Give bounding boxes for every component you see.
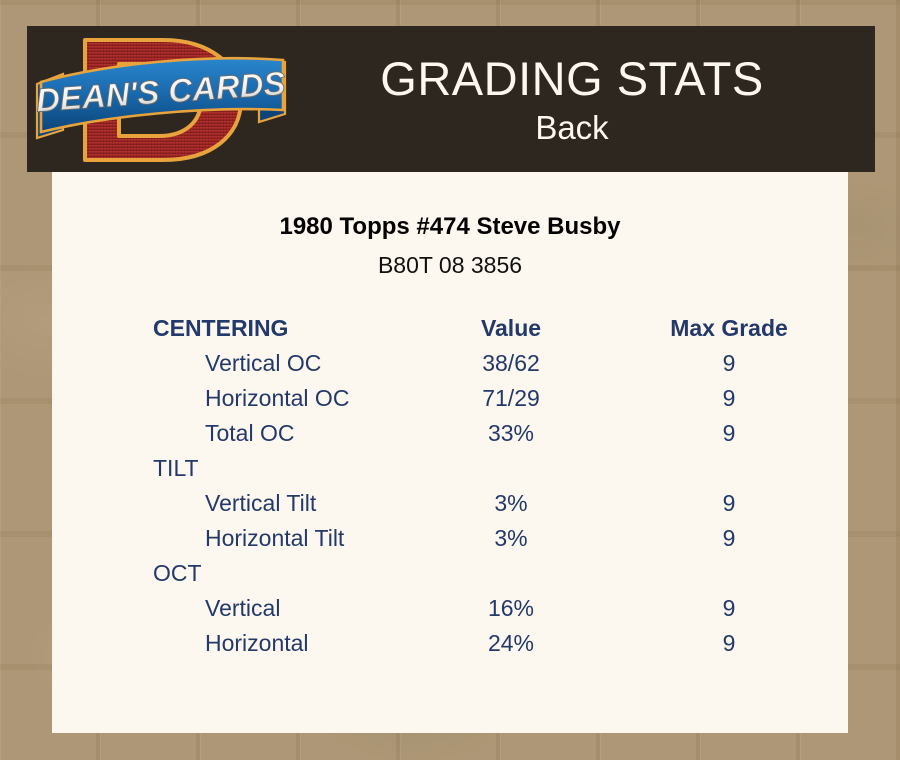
row-value: 33% bbox=[412, 416, 610, 451]
deans-cards-logo-icon: DEAN'S CARDS bbox=[27, 26, 295, 172]
header-titles: GRADING STATS Back bbox=[295, 55, 875, 144]
row-max-grade: 9 bbox=[610, 416, 848, 451]
table-row: Total OC33%9 bbox=[52, 416, 848, 451]
table-row: Horizontal24%9 bbox=[52, 626, 848, 661]
table-section-row: OCT bbox=[52, 556, 848, 591]
row-max-grade: 9 bbox=[610, 486, 848, 521]
grading-stats-table: CENTERING Value Max Grade Vertical OC38/… bbox=[52, 311, 848, 661]
section-spacer-grade bbox=[610, 556, 848, 591]
content-panel: 1980 Topps #474 Steve Busby B80T 08 3856… bbox=[52, 172, 848, 733]
row-value: 71/29 bbox=[412, 381, 610, 416]
card-code: B80T 08 3856 bbox=[52, 252, 848, 279]
row-max-grade: 9 bbox=[610, 521, 848, 556]
row-label: Horizontal OC bbox=[52, 381, 412, 416]
card-title: 1980 Topps #474 Steve Busby bbox=[52, 213, 848, 241]
table-row: Vertical16%9 bbox=[52, 591, 848, 626]
header-bar: DEAN'S CARDS GRADING STATS Back bbox=[27, 26, 875, 172]
table-row: Horizontal Tilt3%9 bbox=[52, 521, 848, 556]
column-header-max-grade: Max Grade bbox=[610, 311, 848, 346]
grading-stats-body: Vertical OC38/629Horizontal OC71/299Tota… bbox=[52, 346, 848, 661]
column-header-value: Value bbox=[412, 311, 610, 346]
row-label: Horizontal Tilt bbox=[52, 521, 412, 556]
row-max-grade: 9 bbox=[610, 381, 848, 416]
page-title: GRADING STATS bbox=[295, 55, 849, 102]
table-header-row: CENTERING Value Max Grade bbox=[52, 311, 848, 346]
row-label: Vertical OC bbox=[52, 346, 412, 381]
section-header-label: OCT bbox=[52, 556, 412, 591]
row-max-grade: 9 bbox=[610, 591, 848, 626]
row-label: Vertical bbox=[52, 591, 412, 626]
row-max-grade: 9 bbox=[610, 626, 848, 661]
row-value: 3% bbox=[412, 521, 610, 556]
section-header-label: TILT bbox=[52, 451, 412, 486]
row-value: 16% bbox=[412, 591, 610, 626]
row-label: Horizontal bbox=[52, 626, 412, 661]
section-spacer-value bbox=[412, 451, 610, 486]
row-value: 3% bbox=[412, 486, 610, 521]
row-value: 38/62 bbox=[412, 346, 610, 381]
table-section-row: TILT bbox=[52, 451, 848, 486]
column-header-centering: CENTERING bbox=[52, 311, 412, 346]
row-max-grade: 9 bbox=[610, 346, 848, 381]
section-spacer-grade bbox=[610, 451, 848, 486]
table-row: Vertical Tilt3%9 bbox=[52, 486, 848, 521]
section-spacer-value bbox=[412, 556, 610, 591]
row-label: Vertical Tilt bbox=[52, 486, 412, 521]
row-value: 24% bbox=[412, 626, 610, 661]
table-row: Horizontal OC71/299 bbox=[52, 381, 848, 416]
row-label: Total OC bbox=[52, 416, 412, 451]
table-row: Vertical OC38/629 bbox=[52, 346, 848, 381]
page-subtitle: Back bbox=[295, 111, 849, 144]
deans-cards-logo[interactable]: DEAN'S CARDS bbox=[27, 26, 295, 172]
